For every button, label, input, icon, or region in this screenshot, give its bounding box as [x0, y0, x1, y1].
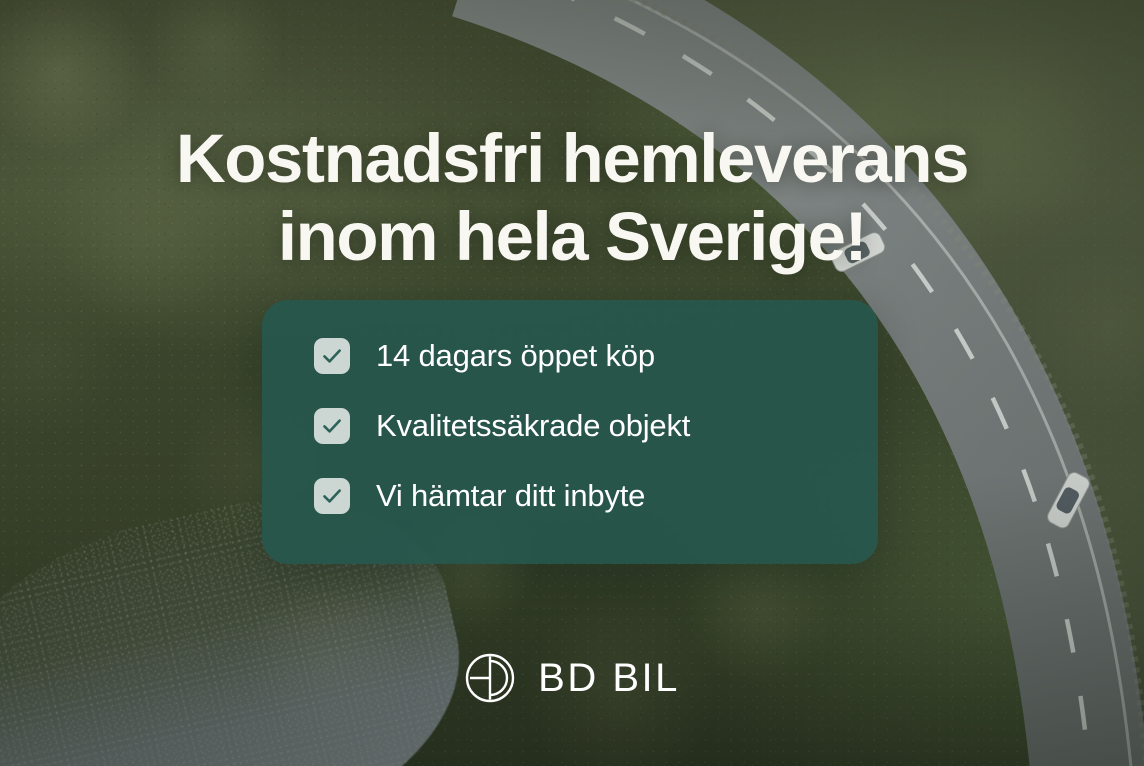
feature-label: 14 dagars öppet köp	[376, 338, 655, 374]
feature-item-trade-in-pickup: Vi hämtar ditt inbyte	[314, 478, 848, 514]
headline-line-2: inom hela Sverige!	[0, 198, 1144, 276]
feature-label: Vi hämtar ditt inbyte	[376, 478, 645, 514]
checkbox-checked-icon[interactable]	[314, 478, 350, 514]
checkbox-checked-icon[interactable]	[314, 338, 350, 374]
feature-list: 14 dagars öppet köp Kvalitetssäkrade obj…	[314, 338, 848, 514]
feature-item-open-purchase: 14 dagars öppet köp	[314, 338, 848, 374]
bd-bil-monogram-icon	[464, 652, 516, 704]
promo-banner: Kostnadsfri hemleverans inom hela Sverig…	[0, 0, 1144, 766]
brand-logo[interactable]: BD BIL	[0, 652, 1144, 704]
headline-line-1: Kostnadsfri hemleverans	[176, 120, 968, 197]
feature-item-quality-assured: Kvalitetssäkrade objekt	[314, 408, 848, 444]
feature-label: Kvalitetssäkrade objekt	[376, 408, 690, 444]
checkbox-checked-icon[interactable]	[314, 408, 350, 444]
feature-card: 14 dagars öppet köp Kvalitetssäkrade obj…	[262, 300, 878, 564]
headline: Kostnadsfri hemleverans inom hela Sverig…	[0, 120, 1144, 276]
brand-logo-text: BD BIL	[538, 658, 680, 698]
